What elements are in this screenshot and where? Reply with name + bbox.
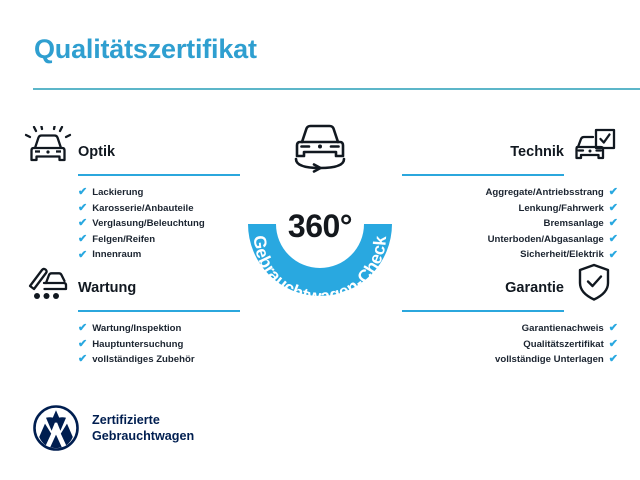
list-item: Garantienachweis✔ <box>402 321 618 337</box>
list-item: Sicherheit/Elektrik✔ <box>402 247 618 263</box>
section-optik-list: ✔Lackierung ✔Karosserie/Anbauteile ✔Verg… <box>78 185 240 263</box>
list-item-label: Aggregate/Antriebsstrang <box>485 185 603 201</box>
list-item-label: Verglasung/Beleuchtung <box>92 216 204 232</box>
badge-degrees: 360° <box>228 208 412 245</box>
section-optik-header: Optik <box>24 126 240 174</box>
list-item: ✔Wartung/Inspektion <box>78 321 240 337</box>
check-icon: ✔ <box>609 234 618 245</box>
list-item: Lenkung/Fahrwerk✔ <box>402 201 618 217</box>
list-item: ✔Verglasung/Beleuchtung <box>78 216 240 232</box>
car-checkbox-inspection-icon <box>570 126 618 170</box>
section-technik-header: Technik <box>402 126 618 174</box>
list-item: Unterboden/Abgasanlage✔ <box>402 232 618 248</box>
certificate-page: Qualitätszertifikat <box>0 0 640 480</box>
check-icon: ✔ <box>78 218 87 229</box>
check-icon: ✔ <box>78 203 87 214</box>
list-item: ✔Karosserie/Anbauteile <box>78 201 240 217</box>
volkswagen-logo <box>32 404 80 452</box>
check-icon: ✔ <box>609 187 618 198</box>
list-item-label: Qualitätszertifikat <box>523 337 604 353</box>
check-icon: ✔ <box>78 250 87 261</box>
list-item: Aggregate/Antriebsstrang✔ <box>402 185 618 201</box>
section-optik-divider <box>78 174 240 176</box>
list-item-label: Bremsanlage <box>544 216 604 232</box>
section-wartung-divider <box>78 310 240 312</box>
list-item-label: vollständiges Zubehör <box>92 352 194 368</box>
section-garantie: Garantie Garantienachweis✔ Qualitätszert… <box>402 262 618 384</box>
section-wartung: Wartung ✔Wartung/Inspektion ✔Hauptunters… <box>24 262 240 384</box>
section-garantie-list: Garantienachweis✔ Qualitätszertifikat✔ v… <box>402 321 618 368</box>
check-icon: ✔ <box>78 234 87 245</box>
section-wartung-header: Wartung <box>24 262 240 310</box>
check-icon: ✔ <box>609 218 618 229</box>
car-service-wrench-icon <box>24 262 72 306</box>
section-garantie-divider <box>402 310 564 312</box>
list-item-label: Sicherheit/Elektrik <box>520 247 604 263</box>
footer-line-1: Zertifizierte <box>92 413 160 427</box>
list-item-label: Felgen/Reifen <box>92 232 155 248</box>
section-technik-title: Technik <box>510 144 564 160</box>
footer-line-2: Gebrauchtwagen <box>92 429 194 443</box>
list-item-label: Garantienachweis <box>522 321 604 337</box>
check-icon: ✔ <box>78 187 87 198</box>
list-item: Bremsanlage✔ <box>402 216 618 232</box>
section-technik-list: Aggregate/Antriebsstrang✔ Lenkung/Fahrwe… <box>402 185 618 263</box>
360-gebrauchtwagen-check-badge: Gebrauchtwagen-Check 360° <box>228 152 412 304</box>
section-technik-divider <box>402 174 564 176</box>
list-item: ✔Lackierung <box>78 185 240 201</box>
list-item-label: Unterboden/Abgasanlage <box>488 232 604 248</box>
car-polish-shine-icon <box>24 126 72 170</box>
list-item-label: vollständige Unterlagen <box>495 352 604 368</box>
check-icon: ✔ <box>609 354 618 365</box>
footer-brand-text: Zertifizierte Gebrauchtwagen <box>92 412 194 444</box>
check-icon: ✔ <box>609 323 618 334</box>
check-icon: ✔ <box>609 250 618 261</box>
check-icon: ✔ <box>609 339 618 350</box>
list-item: ✔Hauptuntersuchung <box>78 337 240 353</box>
check-icon: ✔ <box>78 339 87 350</box>
page-title: Qualitätszertifikat <box>34 34 257 65</box>
footer-brand: Zertifizierte Gebrauchtwagen <box>32 404 194 452</box>
section-optik-title: Optik <box>78 144 115 160</box>
list-item: ✔Felgen/Reifen <box>78 232 240 248</box>
list-item-label: Hauptuntersuchung <box>92 337 183 353</box>
header-divider <box>33 88 640 90</box>
list-item: Qualitätszertifikat✔ <box>402 337 618 353</box>
shield-check-icon <box>570 262 618 306</box>
section-optik: Optik ✔Lackierung ✔Karosserie/Anbauteile… <box>24 126 240 279</box>
section-garantie-header: Garantie <box>402 262 618 310</box>
section-technik: Technik Aggregate/Antriebsstrang✔ Lenkun… <box>402 126 618 279</box>
check-icon: ✔ <box>78 323 87 334</box>
section-wartung-title: Wartung <box>78 280 136 296</box>
list-item-label: Karosserie/Anbauteile <box>92 201 193 217</box>
list-item-label: Innenraum <box>92 247 141 263</box>
list-item: ✔vollständiges Zubehör <box>78 352 240 368</box>
section-garantie-title: Garantie <box>505 280 564 296</box>
list-item: vollständige Unterlagen✔ <box>402 352 618 368</box>
list-item-label: Lenkung/Fahrwerk <box>518 201 603 217</box>
section-wartung-list: ✔Wartung/Inspektion ✔Hauptuntersuchung ✔… <box>78 321 240 368</box>
list-item: ✔Innenraum <box>78 247 240 263</box>
check-icon: ✔ <box>78 354 87 365</box>
check-icon: ✔ <box>609 203 618 214</box>
list-item-label: Lackierung <box>92 185 143 201</box>
list-item-label: Wartung/Inspektion <box>92 321 181 337</box>
